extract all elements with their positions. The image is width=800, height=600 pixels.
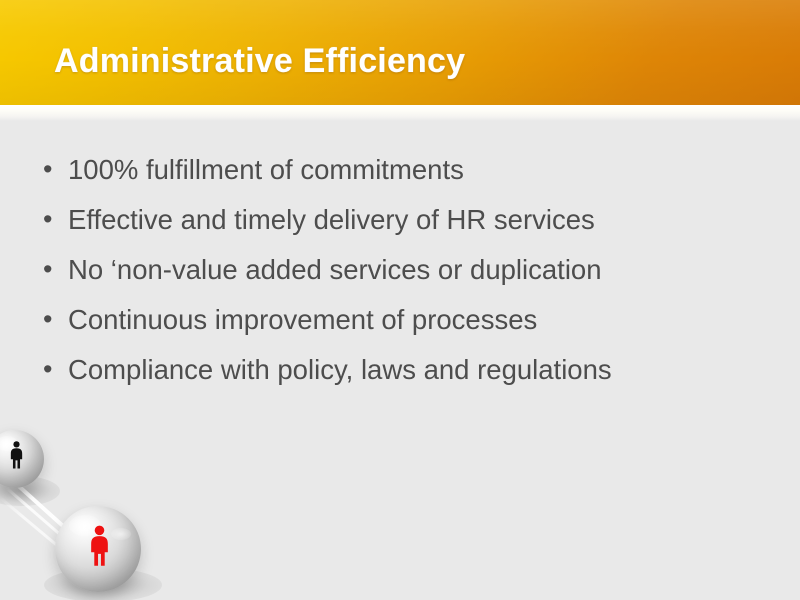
bullet-icon: •: [43, 348, 63, 391]
list-item: • Continuous improvement of processes: [38, 298, 768, 341]
small-sphere: [0, 430, 44, 488]
sphere-highlight: [69, 515, 101, 536]
list-item-label: No ‘non-value added services or duplicat…: [68, 248, 768, 291]
small-sphere-shadow: [0, 476, 60, 506]
list-item: • Compliance with policy, laws and regul…: [38, 348, 768, 391]
list-item-label: 100% fulfillment of commitments: [68, 148, 768, 191]
sphere-secondary-highlight: [111, 528, 131, 540]
black-person-icon: [8, 440, 25, 470]
list-item: • No ‘non-value added services or duplic…: [38, 248, 768, 291]
slide-canvas: Administrative Efficiency • 100% fulfill…: [0, 0, 800, 600]
bullet-list: • 100% fulfillment of commitments • Effe…: [38, 148, 768, 398]
large-sphere-shadow: [44, 568, 162, 600]
bullet-icon: •: [43, 248, 63, 291]
list-item-label: Compliance with policy, laws and regulat…: [68, 348, 768, 391]
list-item: • Effective and timely delivery of HR se…: [38, 198, 768, 241]
red-person-icon: [87, 524, 112, 568]
bullet-icon: •: [43, 298, 63, 341]
bullet-icon: •: [43, 198, 63, 241]
bullet-icon: •: [43, 148, 63, 191]
list-item: • 100% fulfillment of commitments: [38, 148, 768, 191]
list-item-label: Effective and timely delivery of HR serv…: [68, 198, 768, 241]
large-sphere: [55, 506, 141, 592]
sphere-highlight: [0, 436, 18, 451]
light-beam-connector: [11, 478, 94, 553]
banner-underglow: [0, 105, 800, 121]
light-beam-connector: [0, 496, 88, 571]
decorative-sphere-graphic: [0, 420, 230, 600]
list-item-label: Continuous improvement of processes: [68, 298, 768, 341]
page-title: Administrative Efficiency: [54, 42, 465, 81]
light-beam-connector: [5, 486, 91, 562]
